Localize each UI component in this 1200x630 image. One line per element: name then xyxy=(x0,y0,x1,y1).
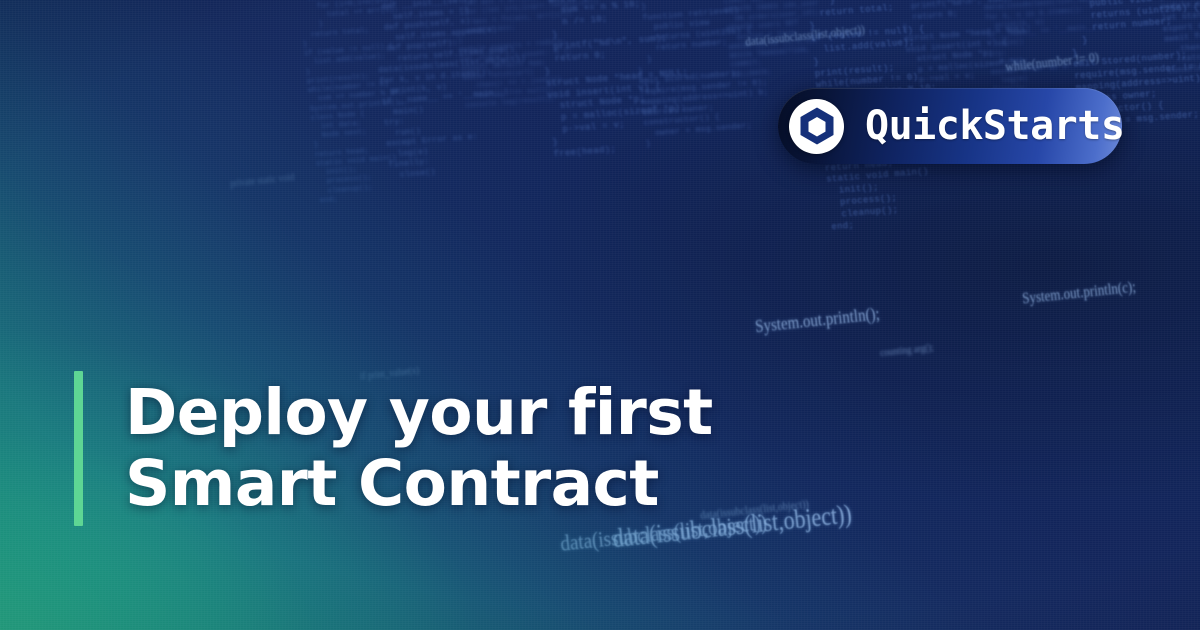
quickstarts-banner: import java.util.*; public class Main { … xyxy=(0,0,1200,630)
quickstarts-wordmark: QuickStarts xyxy=(865,106,1124,146)
hero-headline-block: Deploy your first Smart Contract xyxy=(74,371,713,526)
quickstarts-brand-pill[interactable]: QuickStarts xyxy=(778,88,1122,164)
page-title: Deploy your first Smart Contract xyxy=(125,378,713,519)
chainlink-hexagon-icon xyxy=(789,99,844,154)
accent-bar xyxy=(74,371,83,526)
